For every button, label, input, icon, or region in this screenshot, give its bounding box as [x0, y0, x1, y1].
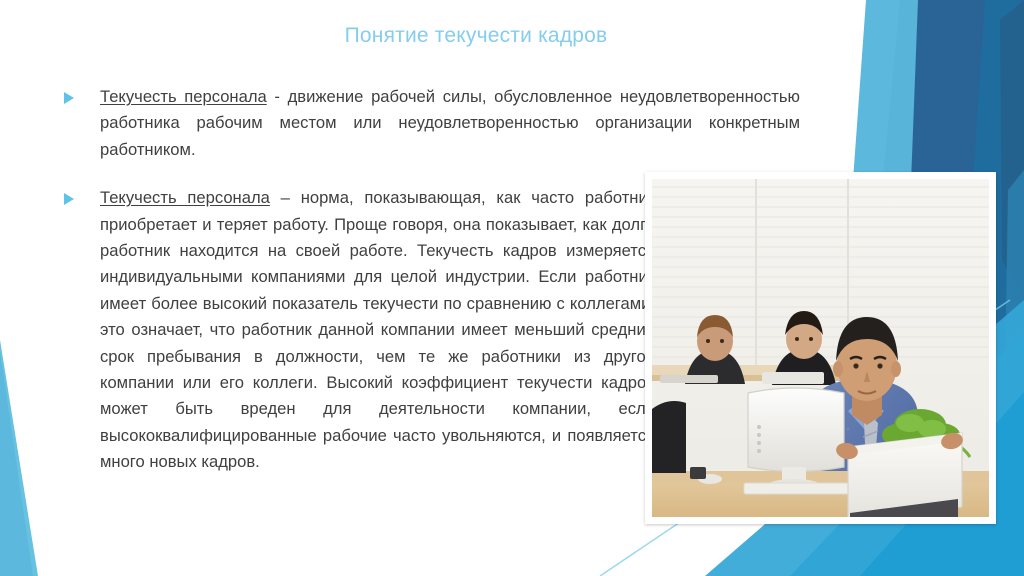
page-title: Понятие текучести кадров — [96, 22, 856, 50]
deco-shape-left-wedge-inner — [0, 352, 33, 576]
bullet-paragraph-1: Текучесть персонала - движение рабочей с… — [62, 84, 800, 163]
presentation-slide: Понятие текучести кадров Текучесть персо… — [0, 0, 1024, 576]
deco-shape-left-wedge — [0, 340, 38, 576]
photo-frame — [645, 172, 996, 524]
office-photo — [652, 179, 989, 517]
lead-term: Текучесть персонала — [100, 188, 270, 207]
paragraph-text: – норма, показывающая, как часто работни… — [100, 188, 655, 471]
lead-term: Текучесть персонала — [100, 87, 267, 106]
deco-shape-right-dark — [1000, 0, 1024, 300]
triangle-bullet-icon — [64, 193, 74, 205]
bullet-paragraph-2: Текучесть персонала – норма, показывающа… — [62, 185, 655, 475]
triangle-bullet-icon — [64, 92, 74, 104]
deco-shape-right-sliver — [1004, 170, 1024, 470]
